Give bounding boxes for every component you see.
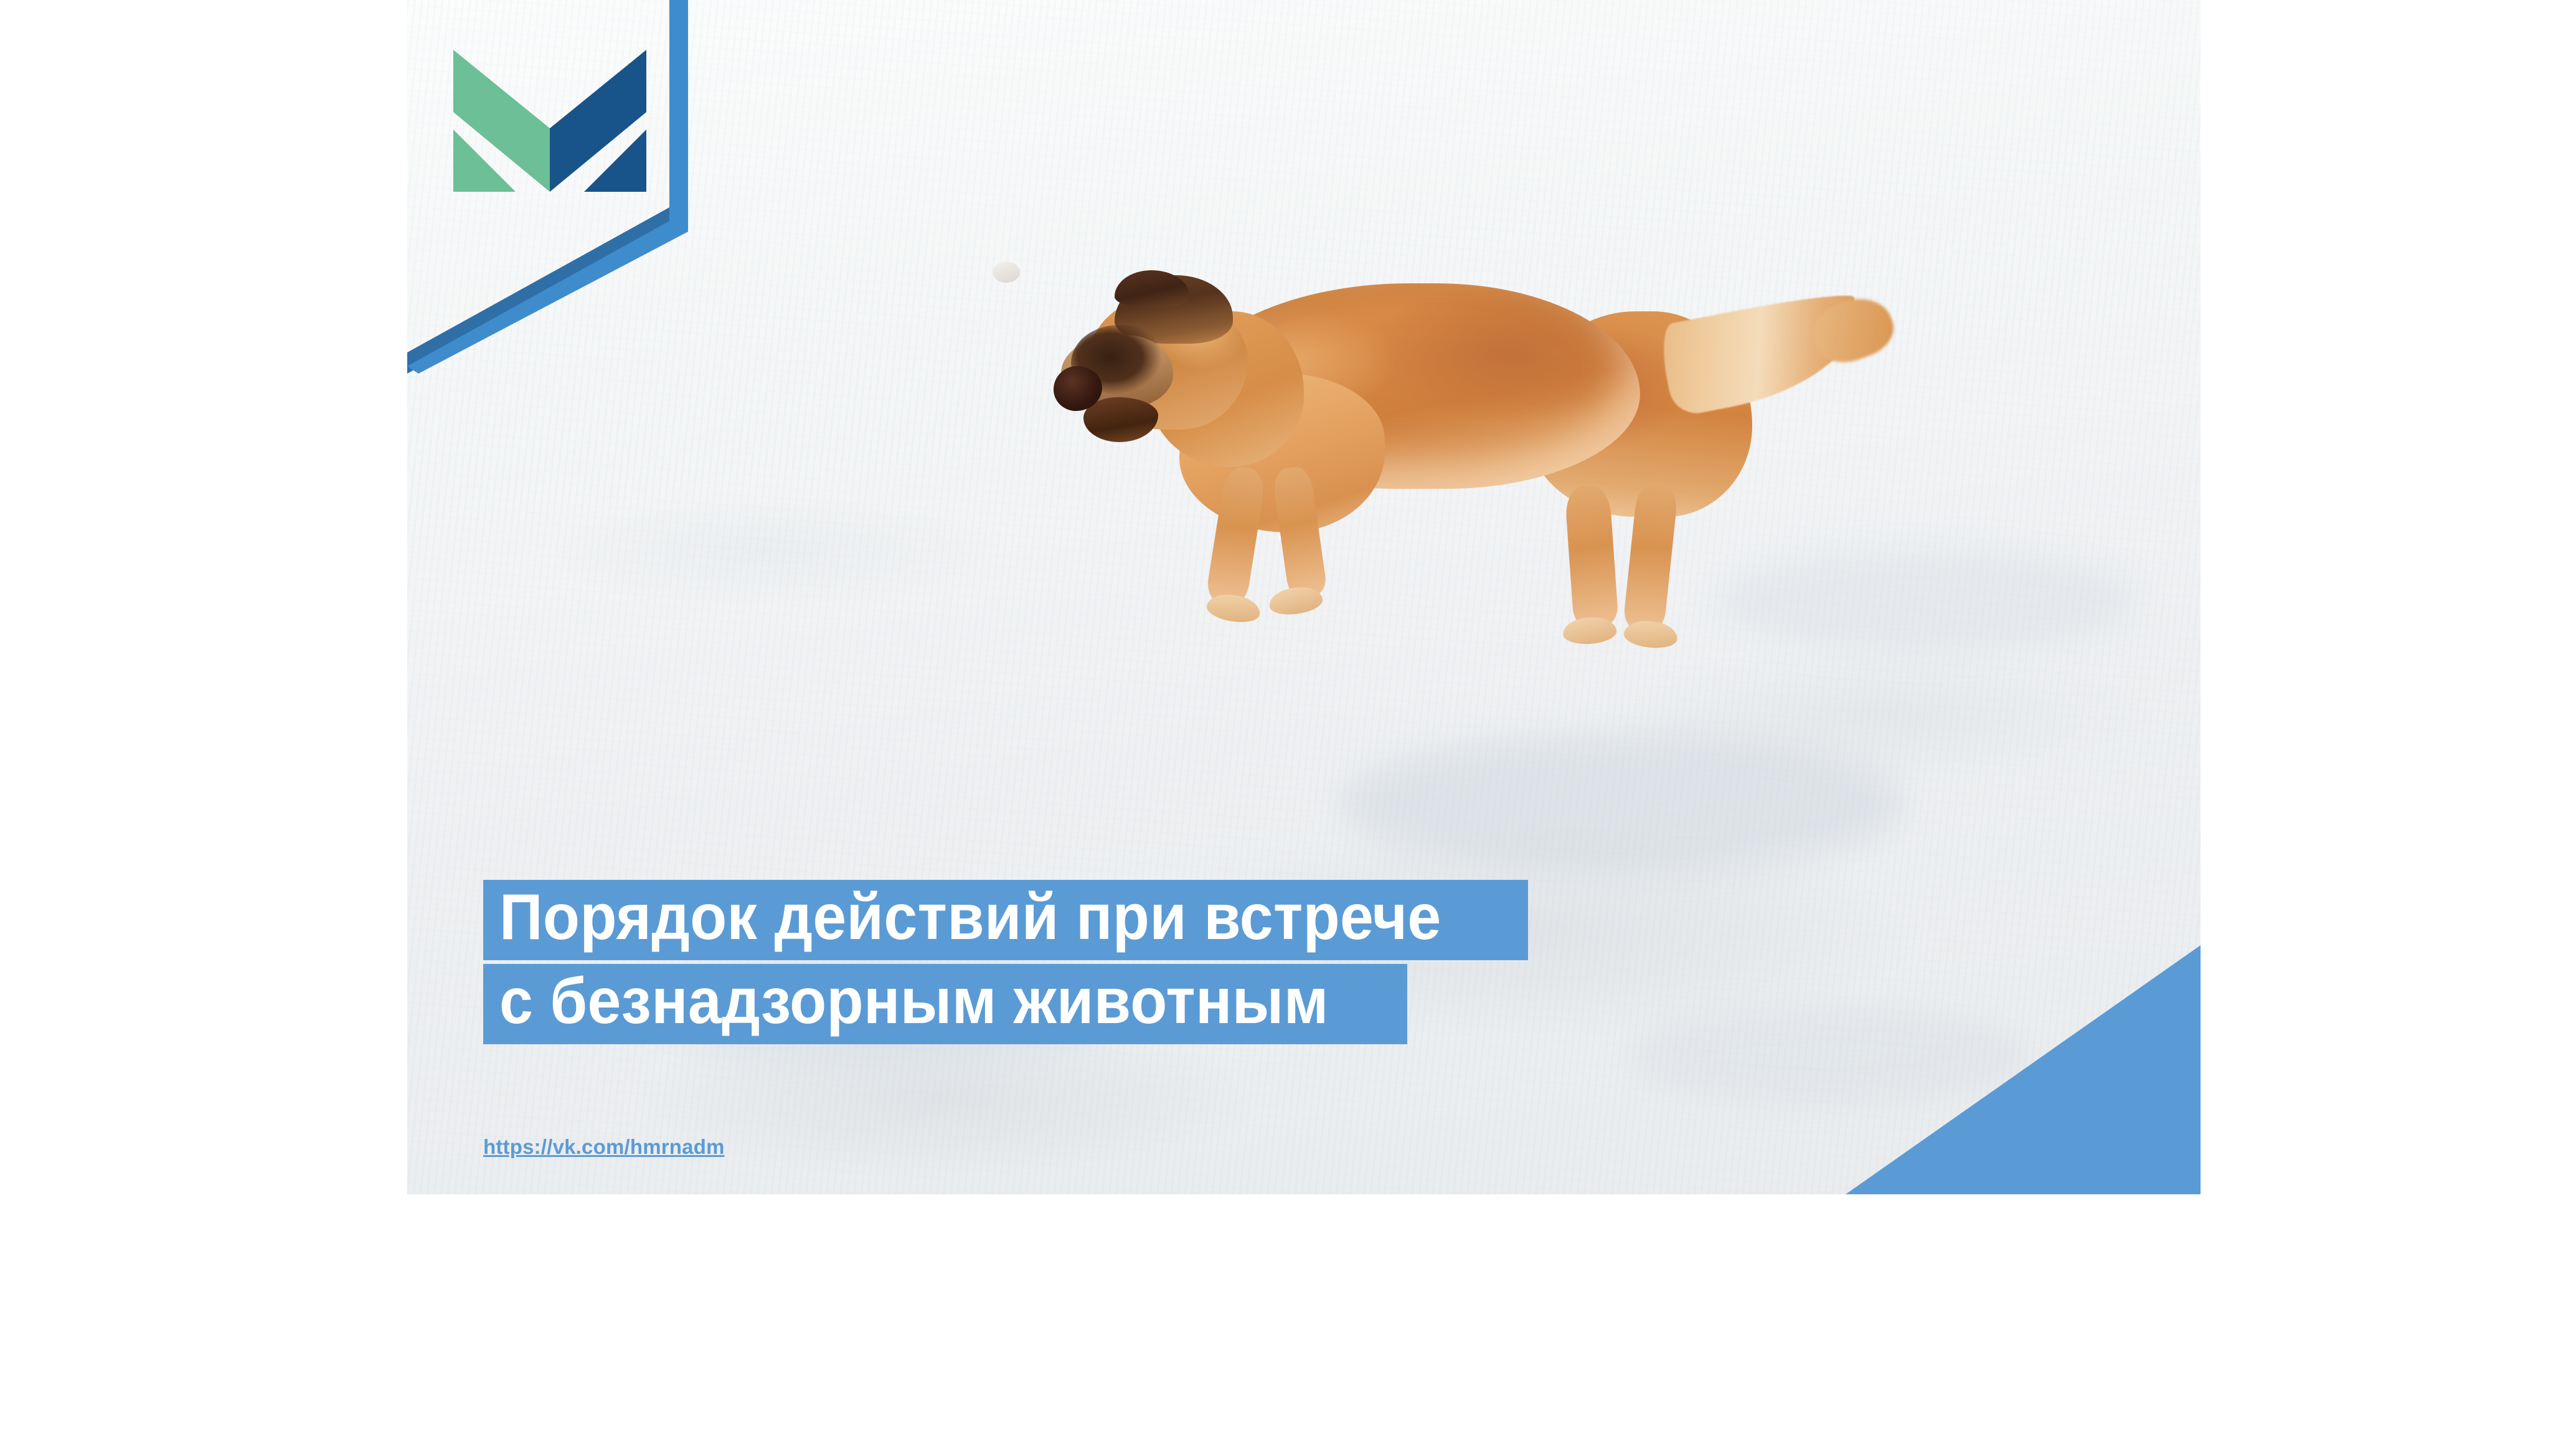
slide-canvas: Порядок действий при встрече с безнадзор… [407, 0, 2201, 1194]
dog-mouth [993, 262, 1020, 283]
title-line-1-bar: Порядок действий при встрече [483, 880, 1528, 960]
title-block: Порядок действий при встрече с безнадзор… [483, 880, 1528, 1048]
m-chevron-logo [453, 36, 646, 192]
vk-url-link[interactable]: https://vk.com/hmrnadm [483, 1135, 725, 1159]
dog-paw [1623, 619, 1679, 651]
title-line-2-bar: с безнадзорным животным [483, 964, 1407, 1044]
dog-jaw [1083, 397, 1158, 442]
title-line-2: с безнадзорным животным [499, 968, 1329, 1036]
dog-illustration [993, 262, 1852, 785]
title-line-1: Порядок действий при встрече [499, 884, 1441, 951]
bottom-right-triangle [1846, 945, 2201, 1194]
